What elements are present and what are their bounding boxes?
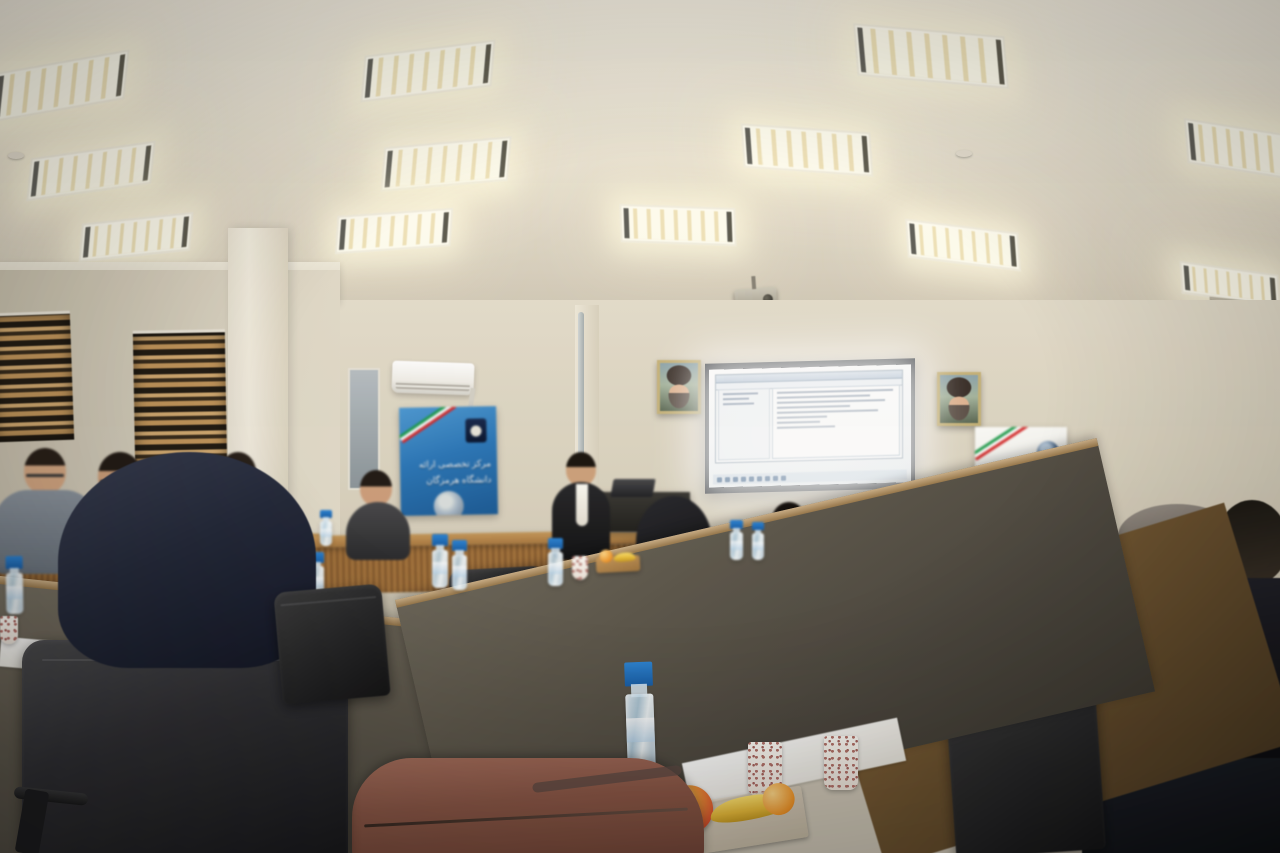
blue-banner-line2: دانشگاه هرمزگان [406,474,491,487]
ceiling-light-7 [741,123,874,176]
torso [346,502,410,560]
water-bottle [320,510,332,546]
water-bottle [452,540,467,590]
water-bottle [548,538,563,586]
ceiling-light-11 [619,204,736,246]
projected-application-window [715,370,903,464]
blue-banner-line1: مرکز تخصصی ارائه [406,458,491,471]
projection-screen-surface [709,364,911,487]
bag-strap [532,765,682,793]
wall-air-conditioner [391,361,474,396]
projected-taskbar [713,469,907,484]
water-bottle [730,520,743,560]
window-blind-right [133,329,227,470]
projection-screen [705,358,915,493]
water-bottle [624,662,656,771]
blue-standing-banner: مرکز تخصصی ارائه دانشگاه هرمزگان [399,406,498,516]
head [24,448,66,494]
app-content-pane [772,385,900,459]
smoke-detector-3 [956,150,972,157]
framed-portrait-right [937,372,981,426]
framed-portrait-left [657,360,701,414]
paper-cup [824,736,858,790]
smoke-detector-1 [8,152,24,159]
head [566,452,596,486]
eyeglasses-icon [26,474,64,477]
water-bottle [5,556,23,614]
window-blind-left [0,311,74,443]
projector-mount [751,276,756,289]
leather-bag [352,758,704,853]
ac-vent-icon [396,381,470,392]
presenter-laptop [610,479,655,497]
paper-cup [0,616,18,644]
water-bottle [752,522,764,560]
water-bottle [432,534,448,588]
head [360,470,392,506]
shirt-collar [576,484,588,526]
app-sidebar [718,388,770,460]
photo-scene: مرکز تخصصی ارائه دانشگاه هرمزگان همایش [0,0,1280,853]
fruit-tray [596,555,641,573]
paper-cup [572,556,588,580]
bag-zipper [364,808,688,828]
office-chair[interactable] [273,584,390,705]
